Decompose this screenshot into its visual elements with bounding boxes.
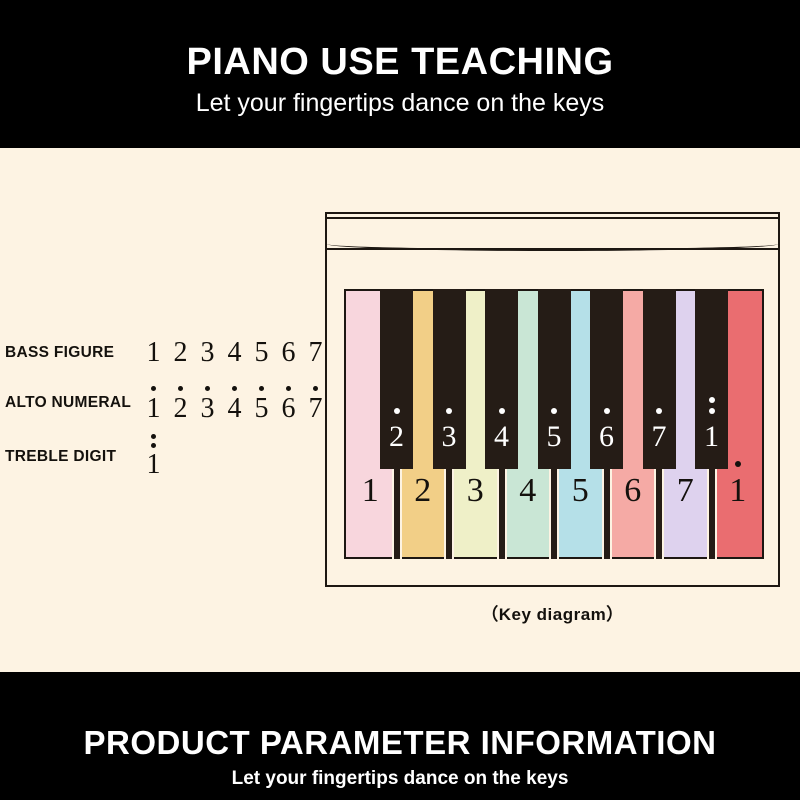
octave-dot-icon: [709, 408, 715, 414]
octave-dot-icon: [313, 386, 318, 391]
black-key-stem: [654, 469, 664, 559]
black-key[interactable]: 7: [643, 289, 676, 469]
legend-numeral: 5: [248, 378, 275, 424]
black-key-stem: [444, 469, 454, 559]
legend-label-alto-numeral: ALTO NUMERAL: [5, 394, 131, 412]
notation-legend: BASS FIGURE 1234567 ALTO NUMERAL 1234567…: [0, 330, 330, 474]
legend-numeral: 3: [194, 330, 221, 368]
legend-numeral: 1: [140, 426, 167, 480]
black-key[interactable]: 3: [433, 289, 466, 469]
octave-dot-icon: [394, 408, 400, 414]
legend-numeral: 6: [275, 378, 302, 424]
black-key-numeral: 2: [389, 421, 404, 453]
black-key-stem: [497, 469, 507, 559]
top-banner: PIANO USE TEACHING Let your fingertips d…: [0, 0, 800, 148]
legend-row-bass-figure: BASS FIGURE 1234567: [0, 330, 330, 378]
legend-numerals-treble-digit: 1: [140, 426, 167, 480]
legend-numeral: 1: [140, 378, 167, 424]
bottom-banner: PRODUCT PARAMETER INFORMATION Let your f…: [0, 672, 800, 800]
black-key-numeral: 6: [599, 421, 614, 453]
white-key-numeral: 2: [414, 473, 431, 509]
white-key-numeral: 1: [729, 473, 746, 509]
legend-row-alto-numeral: ALTO NUMERAL 1234567: [0, 378, 330, 426]
octave-dot-icon: [232, 386, 237, 391]
black-key[interactable]: 1: [695, 289, 728, 469]
keyboard-top-panel: [327, 217, 778, 250]
octave-dot-icon: [446, 408, 452, 414]
octave-dot-icon: [205, 386, 210, 391]
legend-label-treble-digit: TREBLE DIGIT: [5, 448, 116, 466]
black-key-numeral: 4: [494, 421, 509, 453]
black-key[interactable]: 5: [538, 289, 571, 469]
black-key-numeral: 3: [442, 421, 457, 453]
black-key-numeral: 5: [547, 421, 562, 453]
black-key-stem: [549, 469, 559, 559]
keyboard-keys: 123456712345671: [344, 289, 764, 559]
legend-label-bass-figure: BASS FIGURE: [5, 344, 114, 362]
white-key-numeral: 6: [624, 473, 641, 509]
legend-row-treble-digit: TREBLE DIGIT 1: [0, 426, 330, 474]
octave-dot-icon: [656, 408, 662, 414]
bottom-banner-subtitle: Let your fingertips dance on the keys: [0, 768, 800, 790]
legend-numerals-alto-numeral: 1234567: [140, 378, 329, 424]
keyboard-panel-curve: [327, 244, 778, 251]
legend-numeral: 2: [167, 378, 194, 424]
white-key-numeral: 4: [519, 473, 536, 509]
black-key-stem: [392, 469, 402, 559]
legend-numeral: 4: [221, 378, 248, 424]
octave-dot-icon: [151, 434, 156, 439]
legend-numeral: 6: [275, 330, 302, 368]
white-key-numeral: 3: [467, 473, 484, 509]
white-key-numeral: 1: [362, 473, 379, 509]
black-key[interactable]: 6: [590, 289, 623, 469]
octave-dot-icon: [499, 408, 505, 414]
octave-dot-icon: [286, 386, 291, 391]
black-key-numeral: 1: [704, 421, 719, 453]
black-key[interactable]: 2: [380, 289, 413, 469]
legend-numeral: 5: [248, 330, 275, 368]
octave-dot-icon: [151, 443, 156, 448]
legend-numeral: 1: [140, 330, 167, 368]
legend-numeral: 3: [194, 378, 221, 424]
black-key-stem: [707, 469, 717, 559]
piano-keyboard-diagram: 123456712345671: [325, 212, 780, 587]
octave-dot-icon: [151, 386, 156, 391]
legend-numeral: 4: [221, 330, 248, 368]
white-key-numeral: 7: [677, 473, 694, 509]
top-banner-title: PIANO USE TEACHING: [0, 41, 800, 83]
keyboard-caption: （Key diagram）: [325, 600, 780, 625]
black-key-numeral: 7: [652, 421, 667, 453]
octave-dot-icon: [604, 408, 610, 414]
octave-dot-icon: [259, 386, 264, 391]
octave-dot-icon: [735, 461, 741, 467]
legend-numeral: 2: [167, 330, 194, 368]
octave-dot-icon: [709, 397, 715, 403]
white-key-numeral: 5: [572, 473, 589, 509]
legend-numerals-bass-figure: 1234567: [140, 330, 329, 368]
bottom-banner-title: PRODUCT PARAMETER INFORMATION: [0, 724, 800, 762]
top-banner-subtitle: Let your fingertips dance on the keys: [0, 89, 800, 117]
octave-dot-icon: [551, 408, 557, 414]
octave-dot-icon: [178, 386, 183, 391]
black-key[interactable]: 4: [485, 289, 518, 469]
black-key-stem: [602, 469, 612, 559]
